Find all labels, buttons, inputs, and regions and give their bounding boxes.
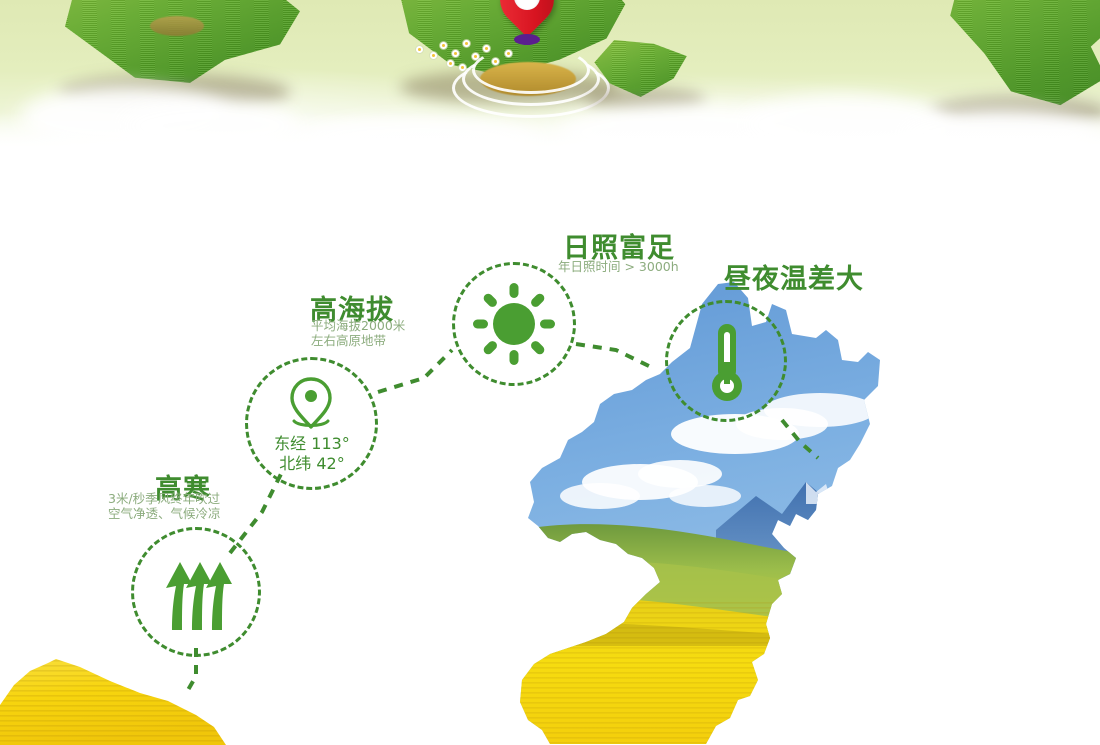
connector-cold-to-altitude (230, 470, 283, 553)
subtitle-line: 年日照时间 > 3000h (558, 259, 679, 274)
cloud (740, 94, 950, 156)
field-texture (0, 659, 226, 745)
canola-field-shape (0, 645, 300, 745)
photo-field-texture (500, 602, 1100, 745)
daisy-icon (430, 52, 437, 59)
node-subtitle-high-altitude: 平均海拔2000米 左右高原地带 (311, 318, 405, 348)
thermometer-icon (706, 322, 748, 404)
sun-icon (473, 283, 555, 365)
node-subtitle-sunshine: 年日照时间 > 3000h (558, 259, 679, 274)
poster-canvas: 高寒 3米/秒季风终年吹过 空气净透、气候冷凉 高海拔 平均海拔2000米 左右… (0, 0, 1100, 745)
cloud (20, 86, 230, 148)
location-pin-icon (287, 375, 335, 433)
photo-cloud (638, 460, 722, 488)
cloud (560, 104, 820, 158)
ripple-ring (452, 58, 610, 118)
grass-island-banner (0, 0, 1100, 158)
cloud (900, 110, 1100, 158)
daisy-icon (416, 46, 423, 53)
node-title-temp-gap: 昼夜温差大 (724, 257, 864, 296)
daisy-icon (483, 45, 490, 52)
subtitle-line: 左右高原地带 (311, 333, 386, 348)
node-coordinates: 东经 113° 北纬 42° (252, 434, 372, 474)
coordinate-latitude: 北纬 42° (279, 454, 344, 473)
region-map-shape (520, 282, 1100, 745)
map-photo-fill (500, 262, 1100, 745)
photo-cloud (764, 393, 876, 427)
cloud (120, 100, 300, 152)
three-up-arrows-icon (158, 558, 236, 630)
pin-base (514, 34, 540, 45)
coordinate-longitude: 东经 113° (274, 434, 350, 453)
daisy-icon (440, 42, 447, 49)
island-rock (150, 16, 204, 36)
subtitle-line: 3米/秒季风终年吹过 (108, 491, 220, 506)
photo-cloud (560, 483, 640, 509)
island-grass (60, 0, 310, 88)
grass-island-left (60, 0, 310, 88)
island-shadow (930, 96, 1100, 128)
photo-cloud (669, 485, 741, 507)
subtitle-line: 空气净透、气候冷凉 (108, 506, 221, 521)
daisy-icon (452, 50, 459, 57)
photo-grassland-band (500, 561, 1100, 654)
photo-grassland (500, 524, 1100, 642)
node-subtitle-high-cold: 3米/秒季风终年吹过 空气净透、气候冷凉 (108, 491, 221, 521)
daisy-icon (447, 60, 454, 67)
cloud (300, 116, 540, 158)
connector-altitude-to-sun (378, 350, 452, 392)
subtitle-line: 平均海拔2000米 (311, 318, 405, 333)
daisy-icon (463, 40, 470, 47)
photo-snowcap (856, 478, 890, 510)
photo-field-furrow (500, 623, 1100, 646)
